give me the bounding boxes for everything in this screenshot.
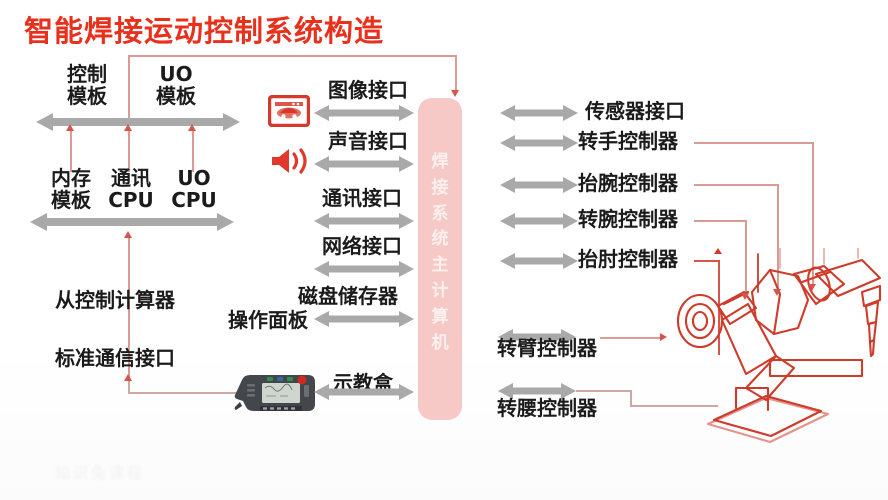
- controller-label-waist-rotate: 转腰控制器: [497, 398, 597, 420]
- top-route-horizontal: [128, 55, 455, 57]
- interface-label-comm: 通讯接口: [322, 188, 402, 210]
- connector-waist-rotate-v: [630, 390, 632, 406]
- module-label-memory-board: 内存 模板: [38, 168, 104, 211]
- top-route-right-vertical: [455, 55, 457, 91]
- module-label-uo-board: UO 模板: [137, 64, 215, 107]
- connector-wrist-rotate-arrowhead-icon: [741, 293, 749, 300]
- sub-controller-spine-arrowhead-icon: [124, 231, 132, 238]
- standard-interface-arrowhead-icon: [124, 374, 132, 381]
- module-label-comm-cpu: 通讯 CPU: [100, 168, 162, 211]
- speaker-icon: [269, 146, 311, 181]
- label-standard-comm-interface: 标准通信接口: [55, 348, 175, 370]
- riser-uo-cpu-arrowhead-icon: [188, 124, 196, 131]
- robot-arm-illustration: [648, 248, 888, 453]
- teach-pendant-link-line: [128, 392, 236, 394]
- interface-label-image: 图像接口: [328, 80, 408, 102]
- top-route-arrowhead-icon: [451, 90, 459, 97]
- module-label-control-board: 控制 模板: [48, 64, 126, 107]
- diagram-canvas: 智能焊接运动控制系统构造 控制 模板 UO 模板 内存 模板 通讯 CPU UO…: [0, 0, 888, 500]
- riser-comm-cpu-arrowhead-icon: [124, 124, 132, 131]
- riser-memory-arrowhead-icon: [66, 124, 74, 131]
- controller-label-wrist-rotate: 转腕控制器: [578, 209, 678, 231]
- controller-label-sensor-interface: 传感器接口: [585, 101, 685, 123]
- label-sub-control-computer: 从控制计算器: [55, 290, 175, 312]
- top-route-left-vertical: [128, 55, 130, 120]
- controller-arrow-wrist-rotate: [500, 212, 578, 230]
- bus-bar-bottom: [30, 212, 234, 232]
- interface-arrow-audio: [314, 155, 414, 173]
- controller-arrow-wrist-lift: [500, 176, 578, 194]
- page-title: 智能焊接运动控制系统构造: [24, 8, 384, 50]
- interface-arrow-disk-panel: [314, 310, 414, 328]
- connector-hand-rotate-arrowhead-icon: [808, 284, 816, 291]
- controller-label-arm-rotate: 转臂控制器: [497, 338, 597, 360]
- interface-label-operation-panel: 操作面板: [228, 310, 308, 332]
- interface-arrow-comm: [314, 212, 414, 230]
- controller-label-wrist-lift: 抬腕控制器: [578, 173, 678, 195]
- connector-hand-rotate-h: [694, 142, 813, 144]
- connector-waist-rotate-h1: [576, 390, 631, 392]
- interface-label-network: 网络接口: [322, 236, 402, 258]
- interface-label-disk-storage: 磁盘储存器: [298, 286, 398, 308]
- interface-label-audio: 声音接口: [328, 131, 408, 153]
- watermark-text: 知识兔课程: [55, 462, 145, 483]
- connector-wrist-lift-h: [694, 184, 778, 186]
- teach-pendant-link-riser: [128, 382, 130, 393]
- interface-arrow-network: [314, 260, 414, 278]
- teach-pendant-icon: [232, 372, 320, 422]
- main-computer-pillar: 焊 接 系 统 主 计 算 机: [418, 98, 462, 420]
- interface-arrow-teach-pendant: [314, 383, 414, 401]
- controller-arrow-wrist-roll: [500, 134, 578, 152]
- main-computer-pillar-label: 焊 接 系 统 主 计 算 机: [418, 150, 462, 357]
- connector-wrist-rotate-h: [694, 220, 746, 222]
- controller-arrow-sensor: [500, 104, 578, 122]
- controller-label-hand-rotate: 转手控制器: [578, 131, 678, 153]
- image-monitor-icon: [268, 95, 310, 132]
- connector-wrist-lift-arrowhead-icon: [773, 289, 781, 296]
- interface-arrow-image: [314, 104, 414, 122]
- module-label-uo-cpu: UO CPU: [163, 168, 225, 211]
- controller-arrow-elbow-lift: [500, 252, 578, 270]
